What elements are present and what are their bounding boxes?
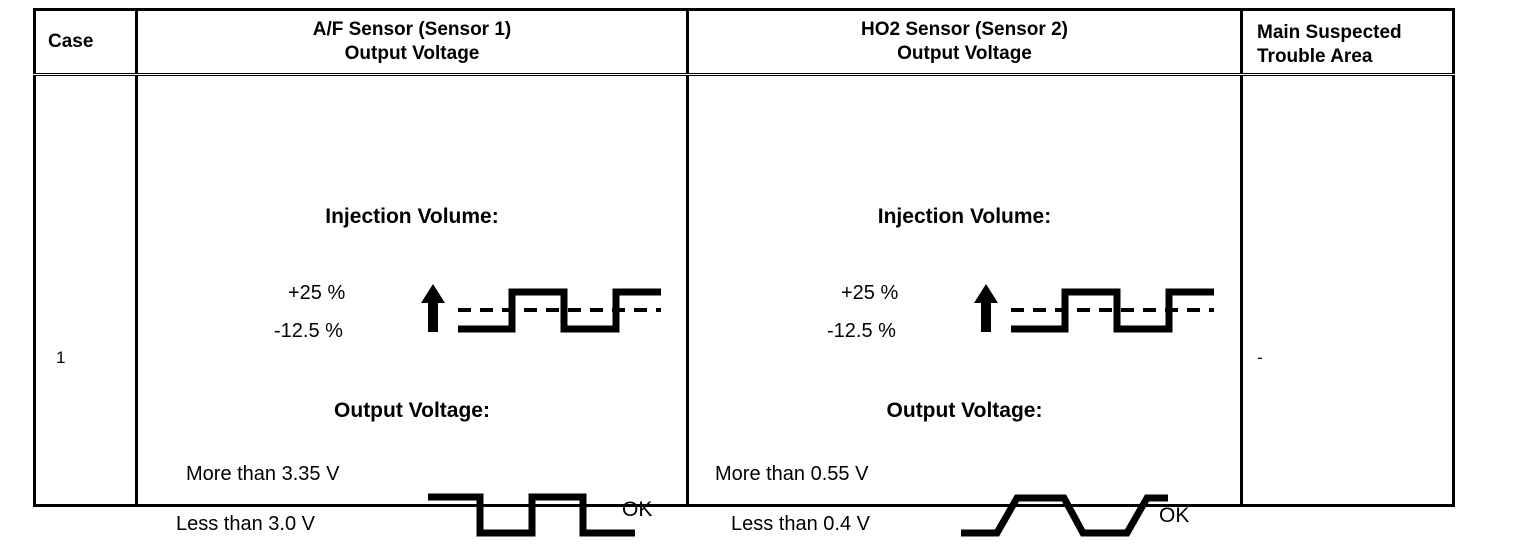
table-row: 1 Injection Volume: +25 % -12.5 %	[35, 75, 1454, 506]
header-label-trouble-area-line1: Main Suspected	[1257, 21, 1402, 45]
table-header-row: Case A/F Sensor (Sensor 1) Output Voltag…	[35, 10, 1454, 75]
ho2-output-trace	[961, 498, 1168, 533]
case-number-value: 1	[56, 348, 65, 368]
header-label-trouble-area-line2: Trouble Area	[1257, 45, 1402, 69]
ho2-output-voltage-title: Output Voltage:	[689, 399, 1240, 423]
header-label-af-sensor: A/F Sensor (Sensor 1) Output Voltage	[138, 18, 686, 66]
header-label-case: Case	[48, 30, 93, 54]
ho2-injection-volume-waveform	[969, 276, 1214, 346]
cell-case-number: 1	[35, 75, 137, 506]
ho2-injection-upper-label: +25 %	[841, 282, 898, 305]
trouble-area-value: -	[1257, 348, 1263, 368]
cell-trouble-area: -	[1242, 75, 1454, 506]
ho2-injection-lower-label: -12.5 %	[827, 320, 896, 343]
cell-af-sensor: Injection Volume: +25 % -12.5 %	[137, 75, 688, 506]
header-label-ho2-sensor: HO2 Sensor (Sensor 2) Output Voltage	[689, 18, 1240, 66]
header-cell-trouble-area: Main Suspected Trouble Area	[1242, 10, 1454, 75]
af-output-lower-label: Less than 3.0 V	[176, 513, 315, 536]
ho2-injection-volume-title: Injection Volume:	[689, 205, 1240, 229]
header-label-af-sensor-line2: Output Voltage	[138, 42, 686, 66]
header-cell-af-sensor: A/F Sensor (Sensor 1) Output Voltage	[137, 10, 688, 75]
header-label-af-sensor-line1: A/F Sensor (Sensor 1)	[138, 18, 686, 42]
up-arrow-icon	[421, 284, 445, 332]
af-output-trace	[428, 497, 635, 533]
header-cell-case: Case	[35, 10, 137, 75]
header-cell-ho2-sensor: HO2 Sensor (Sensor 2) Output Voltage	[688, 10, 1242, 75]
header-label-ho2-sensor-line1: HO2 Sensor (Sensor 2)	[689, 18, 1240, 42]
af-injection-volume-waveform	[416, 276, 661, 346]
af-output-voltage-waveform	[428, 481, 638, 541]
af-injection-upper-label: +25 %	[288, 282, 345, 305]
diagnostic-table: Case A/F Sensor (Sensor 1) Output Voltag…	[33, 8, 1455, 507]
cell-ho2-sensor: Injection Volume: +25 % -12.5 % Output V…	[688, 75, 1242, 506]
ho2-output-upper-label: More than 0.55 V	[715, 463, 868, 486]
ho2-output-lower-label: Less than 0.4 V	[731, 513, 870, 536]
header-label-ho2-sensor-line2: Output Voltage	[689, 42, 1240, 66]
ho2-output-voltage-waveform	[961, 481, 1171, 541]
ho2-sensor-panel: Injection Volume: +25 % -12.5 % Output V…	[689, 76, 1240, 504]
ho2-result-label: OK	[1159, 504, 1189, 528]
af-output-voltage-title: Output Voltage:	[138, 399, 686, 423]
diagnostic-table-container: Case A/F Sensor (Sensor 1) Output Voltag…	[33, 8, 1452, 505]
af-result-label: OK	[622, 498, 652, 522]
af-injection-lower-label: -12.5 %	[274, 320, 343, 343]
af-output-upper-label: More than 3.35 V	[186, 463, 339, 486]
af-injection-volume-title: Injection Volume:	[138, 205, 686, 229]
up-arrow-icon	[974, 284, 998, 332]
header-label-trouble-area: Main Suspected Trouble Area	[1257, 21, 1402, 69]
af-sensor-panel: Injection Volume: +25 % -12.5 %	[138, 76, 686, 504]
